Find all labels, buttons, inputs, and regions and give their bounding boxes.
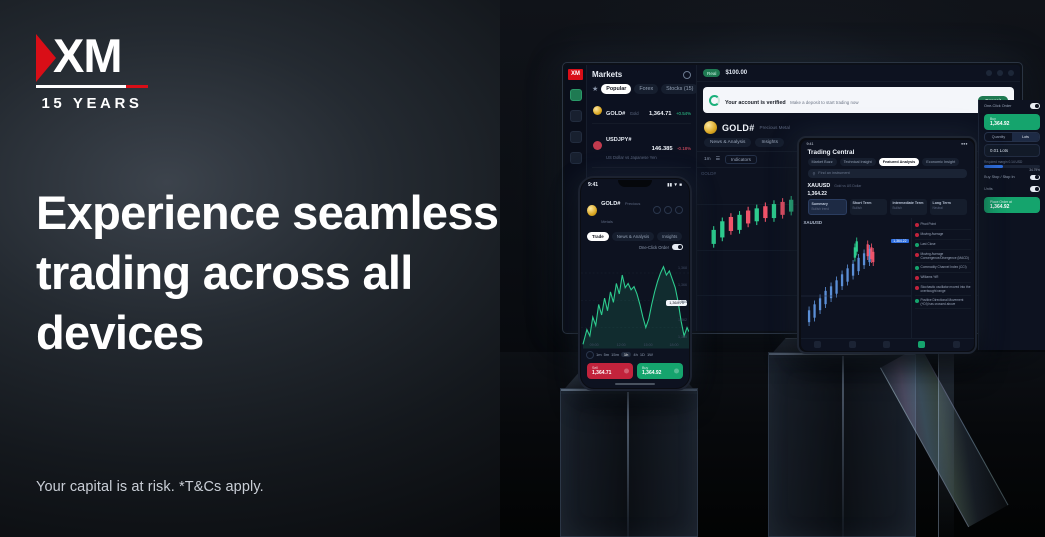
tablet-bottom-nav[interactable] <box>801 338 974 351</box>
markets-icon[interactable] <box>849 341 856 348</box>
rail-trade-icon[interactable] <box>570 110 582 122</box>
buy-price: 1,364.92 <box>642 370 678 376</box>
list-item[interactable]: Positive Directional Movement (+DI) has … <box>915 296 971 309</box>
tablet-instrument-symbol: XAUUSD <box>808 183 831 189</box>
signal-card[interactable]: Intermediate Term Bullish <box>890 199 927 215</box>
signal-title: Long Term <box>933 201 964 205</box>
instrument-search-input[interactable]: ⚲ Find an instrument <box>808 169 967 178</box>
y-tick: 1,364 <box>678 300 687 304</box>
glass-panel <box>938 330 954 537</box>
insights-icon[interactable] <box>918 341 925 348</box>
sell-indicator-icon <box>624 368 629 373</box>
more-icon[interactable] <box>675 206 683 214</box>
tf-1m[interactable]: 1m <box>596 352 602 357</box>
tablet-candles-svg <box>801 218 911 338</box>
avatar[interactable] <box>1008 70 1014 76</box>
signal-title: Short Term <box>853 201 884 205</box>
tablet-instrument-row: XAUUSD Gold vs US Dollar <box>801 181 974 191</box>
signal-value: Bullish trend <box>812 207 843 211</box>
news-text: Williams %R <box>921 275 939 280</box>
news-text: Moving Average Convergence/Divergence (M… <box>921 252 971 260</box>
news-text: Pivot Point <box>921 222 936 227</box>
instrument-change: +0.54% <box>676 111 691 116</box>
notifications-icon[interactable] <box>986 70 992 76</box>
instrument-change: -0.18% <box>677 146 691 151</box>
rail-markets-icon[interactable] <box>570 89 582 101</box>
xm-logo: XM 15 YEARS <box>36 34 148 112</box>
one-click-label: One-Click Order <box>639 245 669 250</box>
tablet-tabs[interactable]: Market Buzz Technical Insight Featured A… <box>801 158 974 169</box>
signal-value: Bullish <box>853 206 884 210</box>
y-tick: 1,360 <box>678 335 687 339</box>
settings-icon[interactable] <box>997 70 1003 76</box>
tablet-screen: 9:41 ●●● Trading Central Market Buzz Tec… <box>801 140 974 351</box>
tab-news-analysis[interactable]: News & Analysis <box>612 232 654 241</box>
search-placeholder: Find an instrument <box>818 171 849 175</box>
markets-title: Markets <box>592 70 622 79</box>
tab-stocks[interactable]: Stocks (15) <box>661 84 698 94</box>
rail-account-icon[interactable] <box>570 152 582 164</box>
rail-insights-icon[interactable] <box>570 131 582 143</box>
volume-input[interactable]: 0.01 Lots <box>984 144 1040 157</box>
page-title: Experience seamless trading across all d… <box>36 183 556 363</box>
instrument-desc: US Dollar vs Japanese Yen <box>606 155 657 160</box>
signal-value: Bullish <box>893 206 924 210</box>
tab-economic-insight[interactable]: Economic Insight <box>922 158 959 166</box>
signal-title: Intermediate Term <box>893 201 924 205</box>
sell-label: Sell <box>592 366 628 370</box>
instrument-price: 146.385 <box>652 146 673 152</box>
tab-insights[interactable]: Insights <box>657 232 682 241</box>
logo-divider <box>36 85 148 88</box>
phone-instrument-header: GOLD# Precious Metals <box>581 189 689 231</box>
phone-timeframe-bar[interactable]: 1m 5m 15m 1h 4h 1D 1W <box>581 349 689 361</box>
sell-price: 1,364.71 <box>592 370 628 376</box>
y-tick: 1,366 <box>678 283 687 287</box>
verification-banner: Your account is verified Make a deposit … <box>703 87 1014 113</box>
favorites-star-icon[interactable]: ★ <box>592 86 598 93</box>
units-row[interactable]: Units <box>979 183 1045 195</box>
sell-button[interactable]: Sell 1,364.71 <box>587 363 633 380</box>
logo-anniversary: 15 YEARS <box>36 95 148 112</box>
segment-lots[interactable]: Lots <box>1012 133 1039 141</box>
instrument-icon <box>593 106 602 115</box>
x-tick: 18:00 <box>670 343 679 347</box>
tab-market-buzz[interactable]: Market Buzz <box>808 158 837 166</box>
logo-mark: XM <box>36 34 148 82</box>
search-icon: ⚲ <box>813 171 816 176</box>
phone-tabs[interactable]: Trade News & Analysis Insights <box>581 231 689 244</box>
tab-insights[interactable]: Insights <box>755 138 784 147</box>
tablet-instrument-meta: Gold vs US Dollar <box>834 184 861 188</box>
x-tick: 09:00 <box>590 343 599 347</box>
instrument-name: GOLD# <box>722 123 755 133</box>
signal-title: Summary <box>812 202 843 206</box>
banner-subtitle: Make a deposit to start trading now <box>790 100 858 105</box>
info-icon[interactable] <box>653 206 661 214</box>
timeframe-selector[interactable]: 1m <box>704 157 711 162</box>
one-click-toggle[interactable] <box>672 244 683 250</box>
units-label: Units <box>984 187 993 191</box>
tab-featured-analysis[interactable]: Featured Analysis <box>879 158 920 166</box>
signal-card[interactable]: Long Term Neutral <box>930 199 967 215</box>
tablet-price-tag: 1,364.22 <box>891 239 908 243</box>
list-item[interactable]: Williams %R <box>915 273 971 283</box>
one-click-label: One-Click Order <box>984 104 1011 108</box>
markets-tabs[interactable]: ★ Popular Forex Stocks (15) <box>592 84 691 94</box>
instrument-icon <box>593 141 602 150</box>
logo-wordmark: XM <box>53 34 148 82</box>
list-item[interactable]: Moving Average Convergence/Divergence (M… <box>915 250 971 263</box>
rail-xm-logo-icon <box>568 69 583 80</box>
list-item[interactable]: Last Close <box>915 240 971 250</box>
tablet-device: 9:41 ●●● Trading Central Market Buzz Tec… <box>797 136 977 354</box>
x-tick: 12:00 <box>617 343 626 347</box>
signal-card[interactable]: Summary Bullish trend <box>808 199 847 215</box>
buy-price: 1,364.92 <box>990 121 1034 127</box>
phone-screen: 9:41 ▮▮ ▼ ■ GOLD# Precious Metals Trade … <box>581 179 689 388</box>
margin-progress <box>984 165 1040 168</box>
buy-button[interactable]: Buy 1,364.92 <box>637 363 683 380</box>
quantity-unit-segment[interactable]: Quantity Lots <box>984 132 1040 142</box>
phone-notch <box>618 180 652 187</box>
news-text: Positive Directional Movement (+DI) has … <box>921 298 971 306</box>
order-ticket-panel: One-Click Order Buy 1,364.92 Quantity Lo… <box>978 100 1045 350</box>
banner-title: Your account is verified <box>725 100 786 106</box>
one-click-order-row[interactable]: One-Click Order <box>979 100 1045 112</box>
list-item[interactable]: Commodity Channel Index (CCI) <box>915 263 971 273</box>
tablet-instrument-price: 1,364.22 <box>801 191 974 199</box>
buy-label: Buy <box>642 366 678 370</box>
indicators-button[interactable]: Indicators <box>725 155 757 164</box>
news-text: Moving Average <box>921 232 944 237</box>
segment-quantity[interactable]: Quantity <box>985 133 1012 141</box>
y-tick: 1,362 <box>678 318 687 322</box>
phone-time: 9:41 <box>588 182 598 188</box>
gold-icon <box>587 205 597 216</box>
signal-card[interactable]: Short Term Bullish <box>850 199 887 215</box>
one-click-toggle[interactable] <box>1030 103 1040 109</box>
units-toggle[interactable] <box>1030 186 1040 192</box>
margin-label: Required margin 0.14 USD <box>984 160 1040 164</box>
markets-header: Markets <box>592 70 691 79</box>
buy-button[interactable]: Buy 1,364.92 <box>984 114 1040 130</box>
tf-1w[interactable]: 1W <box>647 352 653 357</box>
tablet-page-title: Trading Central <box>801 146 974 158</box>
trade-icon[interactable] <box>883 341 890 348</box>
phone-trade-buttons[interactable]: Sell 1,364.71 Buy 1,364.92 <box>581 361 689 384</box>
home-icon[interactable] <box>814 341 821 348</box>
tablet-news-list[interactable]: Pivot Point Moving Average Last Close Mo… <box>912 218 974 338</box>
tab-popular[interactable]: Popular <box>601 84 631 94</box>
podium-left <box>560 388 698 537</box>
phone-device: 9:41 ▮▮ ▼ ■ GOLD# Precious Metals Trade … <box>578 176 692 391</box>
phone-line-chart[interactable]: 1,364.71 1,368 1,366 1,364 1,362 1,360 0… <box>581 252 689 349</box>
instrument-price: 1,364.71 <box>649 111 672 117</box>
phone-instrument-name: GOLD# <box>601 201 620 207</box>
chart-type-icon[interactable]: ☰ <box>716 157 720 162</box>
list-item[interactable]: Pivot Point <box>915 220 971 230</box>
gold-icon <box>704 121 717 134</box>
y-tick: 1,368 <box>678 266 687 270</box>
instrument-category: Precious Metal <box>760 125 790 130</box>
x-tick: 15:00 <box>644 343 653 347</box>
phone-home-indicator <box>615 383 655 385</box>
account-type-badge: Real <box>703 69 720 77</box>
buy-stop-toggle[interactable] <box>1030 175 1040 181</box>
instrument-symbol: GOLD# <box>606 111 625 117</box>
tab-trade[interactable]: Trade <box>587 232 609 241</box>
chart-settings-icon[interactable] <box>586 351 594 359</box>
account-icon[interactable] <box>953 341 960 348</box>
tablet-candlestick-chart[interactable]: XAUUSD <box>801 218 912 338</box>
list-item[interactable]: Moving Average <box>915 230 971 240</box>
alert-icon[interactable] <box>664 206 672 214</box>
news-text: Stochastic oscillator moved into the ove… <box>921 285 971 293</box>
tab-news-analysis[interactable]: News & Analysis <box>704 138 751 147</box>
news-text: Commodity Channel Index (CCI) <box>921 265 967 270</box>
tab-forex[interactable]: Forex <box>634 84 658 94</box>
monitor-instrument-header: GOLD# Precious Metal <box>697 118 1020 137</box>
risk-disclaimer: Your capital is at risk. *T&Cs apply. <box>36 479 264 495</box>
buy-stop-row[interactable]: Buy Stop / Stop In <box>979 172 1045 184</box>
buy-indicator-icon <box>674 368 679 373</box>
place-order-price: 1,364.92 <box>990 204 1034 210</box>
list-item[interactable]: Stochastic oscillator moved into the ove… <box>915 283 971 296</box>
phone-status-icons: ▮▮ ▼ ■ <box>667 182 682 188</box>
tablet-signal-cards: Summary Bullish trend Short Term Bullish… <box>801 199 974 218</box>
account-balance: $100.00 <box>725 70 747 76</box>
news-text: Last Close <box>921 242 936 247</box>
tf-4h[interactable]: 4h <box>633 352 637 357</box>
podium-right-edge <box>842 356 844 537</box>
tf-1h[interactable]: 1h <box>621 352 631 357</box>
phone-one-click-row[interactable]: One-Click Order <box>581 244 689 252</box>
tf-1d[interactable]: 1D <box>640 352 645 357</box>
logo-divider-white <box>36 85 126 88</box>
tf-15m[interactable]: 15m <box>611 352 619 357</box>
tf-5m[interactable]: 5m <box>604 352 610 357</box>
podium-left-edge <box>627 392 629 537</box>
verified-check-icon <box>709 95 720 106</box>
buy-stop-label: Buy Stop / Stop In <box>984 175 1015 179</box>
instrument-symbol: USDJPY# <box>606 137 632 143</box>
promo-banner: XM 15 YEARS Experience seamless trading … <box>0 0 1045 537</box>
monitor-topbar: Real $100.00 <box>697 65 1020 82</box>
tab-technical-insight[interactable]: Technical Insight <box>840 158 876 166</box>
search-icon[interactable] <box>683 71 691 79</box>
table-row[interactable]: GOLD# Gold 1,364.71 +0.54% <box>592 98 691 124</box>
signal-value: Neutral <box>933 206 964 210</box>
logo-divider-red <box>126 85 148 88</box>
instrument-desc: Gold <box>630 111 639 116</box>
place-order-button[interactable]: Place Order at 1,364.92 <box>984 197 1040 213</box>
table-row[interactable]: USDJPY# US Dollar vs Japanese Yen 146.38… <box>592 124 691 168</box>
